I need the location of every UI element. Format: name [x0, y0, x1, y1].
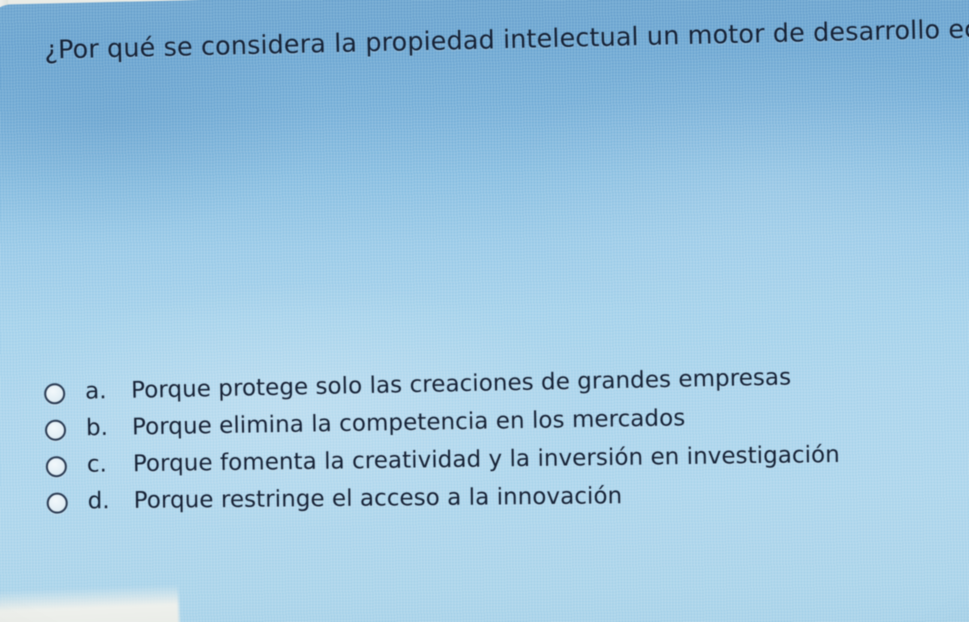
answer-option-d[interactable]: d. Porque restringe el acceso a la innov… [47, 479, 947, 526]
quiz-panel: ¿Por qué se considera la propiedad intel… [0, 0, 969, 622]
quiz-question-screenshot: ¿Por qué se considera la propiedad intel… [0, 0, 969, 622]
screen-bezel-bottom [0, 584, 180, 622]
answer-letter-c: c. [87, 450, 133, 479]
question-text: ¿Por qué se considera la propiedad intel… [44, 15, 944, 67]
answer-letter-a: a. [85, 377, 132, 406]
quiz-content: ¿Por qué se considera la propiedad intel… [0, 0, 969, 5]
radio-button-d[interactable] [47, 493, 68, 514]
radio-button-a[interactable] [44, 383, 65, 404]
radio-button-c[interactable] [46, 456, 67, 477]
answer-text-a: Porque protege solo las creaciones de gr… [131, 360, 944, 404]
answer-options-list: a. Porque protege solo las creaciones de… [44, 359, 947, 531]
radio-button-b[interactable] [45, 420, 66, 441]
answer-letter-b: b. [86, 413, 132, 442]
answer-letter-d: d. [88, 487, 134, 515]
